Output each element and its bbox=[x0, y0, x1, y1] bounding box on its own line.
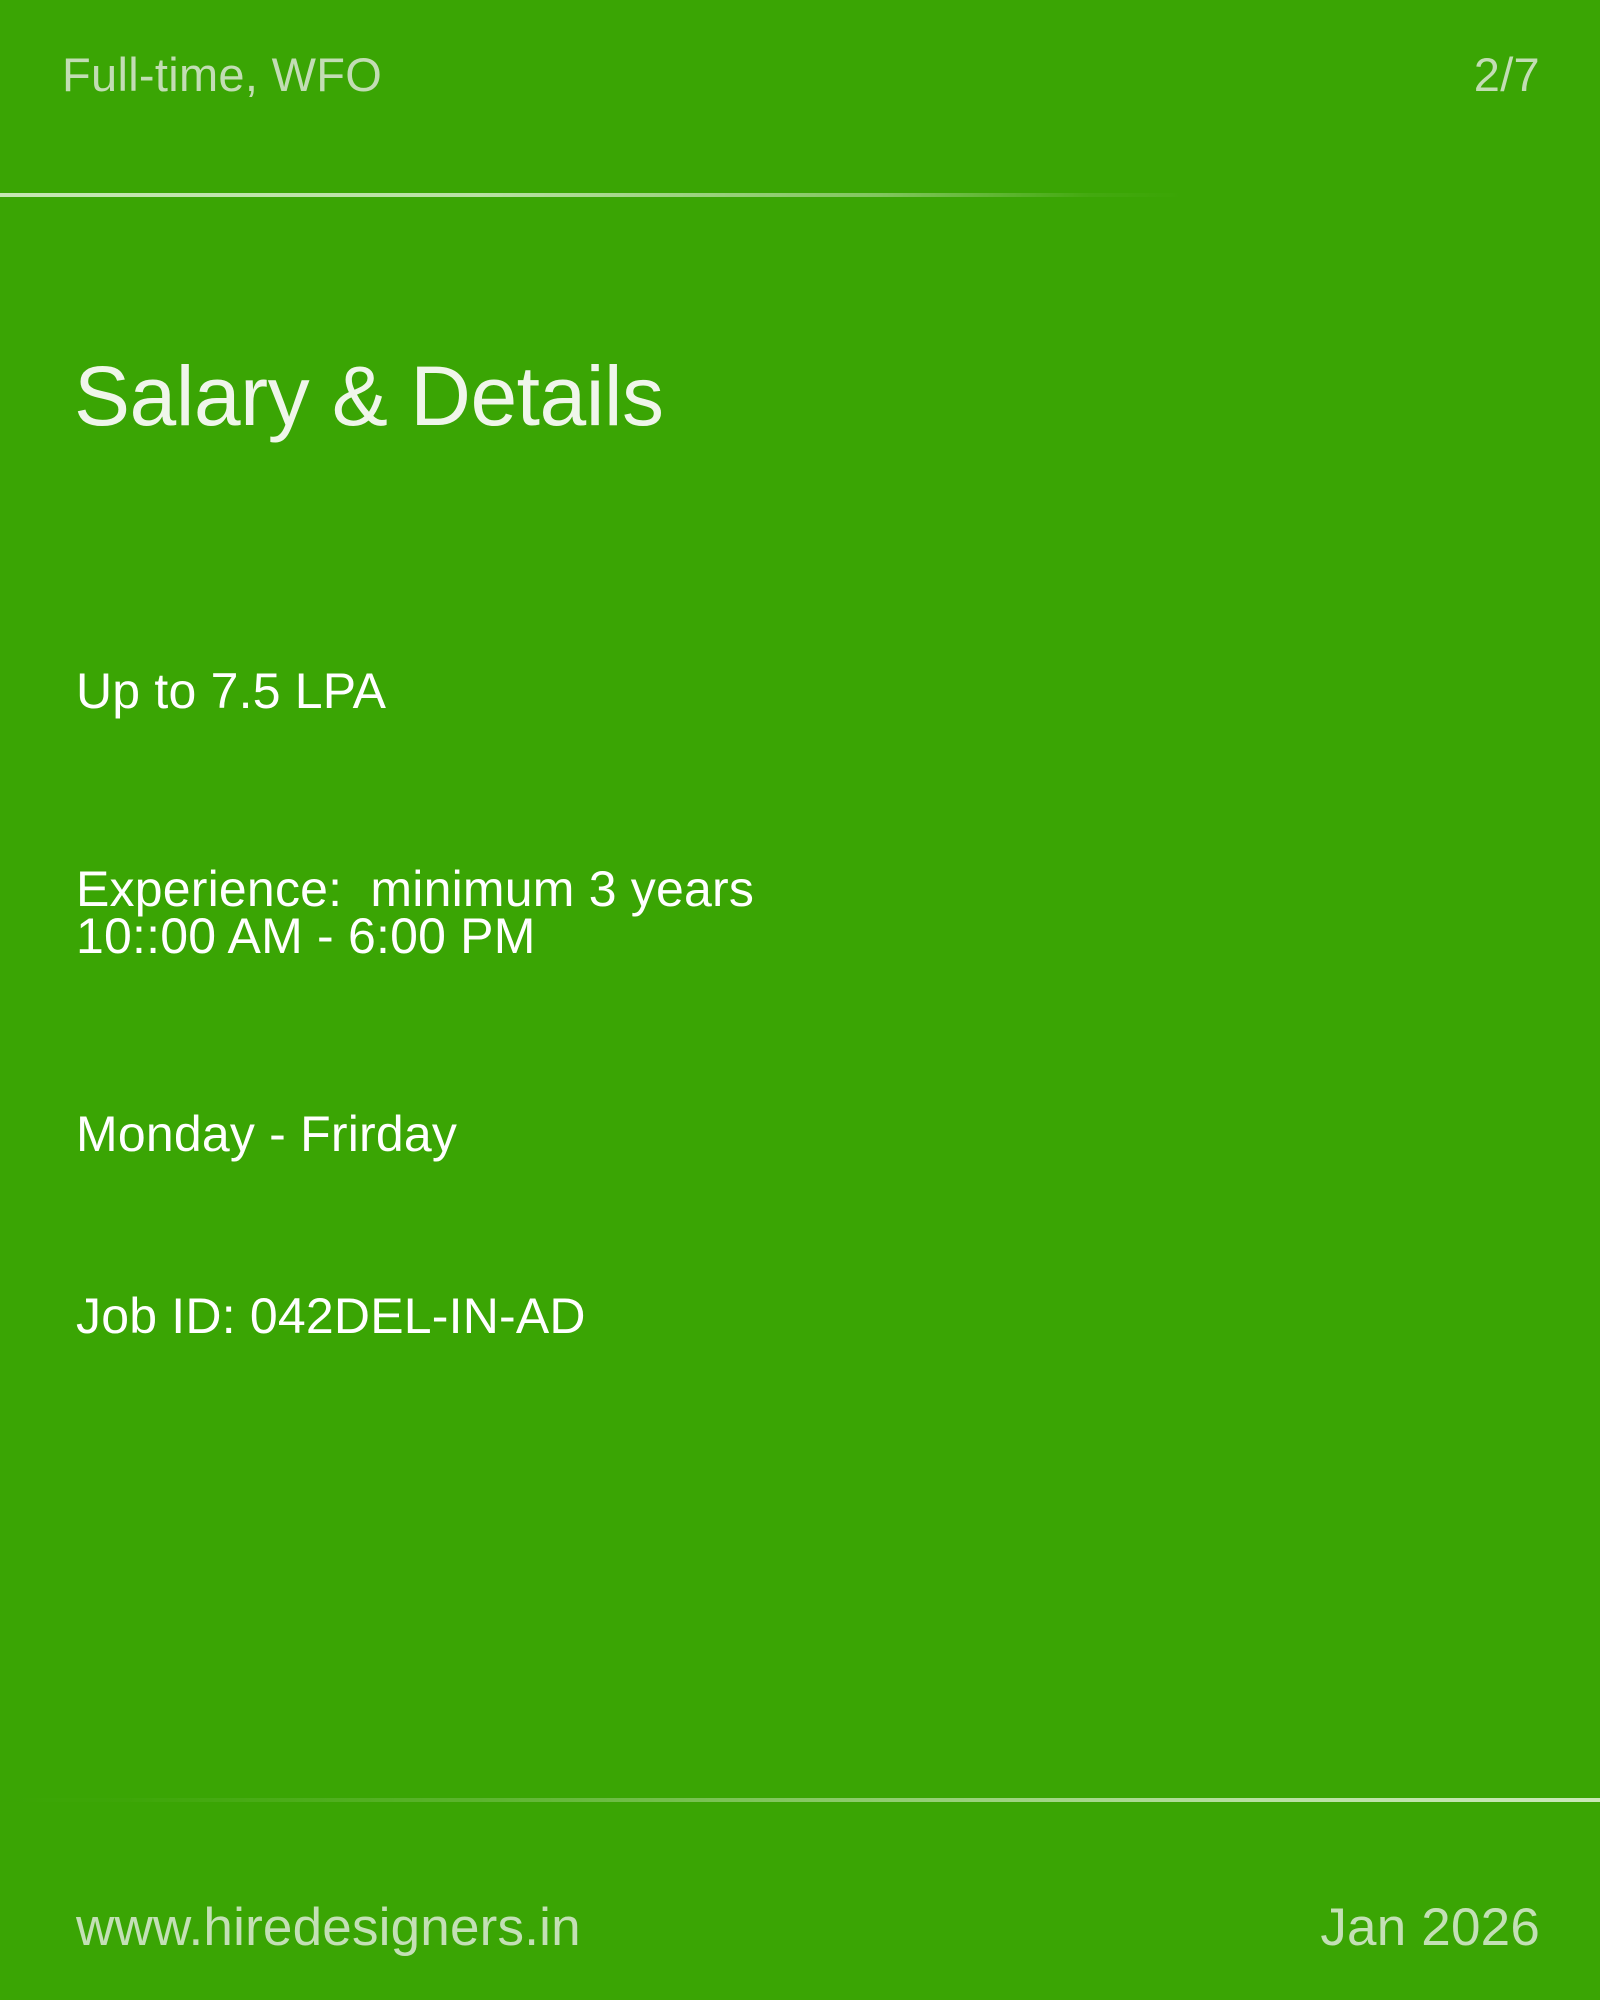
slide-header: Full-time, WFO 2/7 bbox=[0, 0, 1600, 196]
slide-footer: www.hiredesigners.in Jan 2026 bbox=[0, 1798, 1600, 2000]
salary-line: Up to 7.5 LPA bbox=[76, 658, 754, 724]
job-id-block: Job ID: 042DEL-IN-AD bbox=[76, 1151, 586, 1481]
slide-canvas: Full-time, WFO 2/7 Salary & Details Up t… bbox=[0, 0, 1600, 2000]
footer-divider bbox=[0, 1798, 1600, 1802]
page-title: Salary & Details bbox=[74, 354, 664, 438]
work-hours-line: 10::00 AM - 6:00 PM bbox=[76, 903, 536, 969]
header-divider bbox=[0, 193, 1600, 197]
website-link[interactable]: www.hiredesigners.in bbox=[76, 1898, 581, 1959]
job-id-line: Job ID: 042DEL-IN-AD bbox=[76, 1283, 586, 1349]
slide-counter: 2/7 bbox=[1474, 48, 1540, 102]
footer-date: Jan 2026 bbox=[1320, 1898, 1540, 1959]
employment-type-label: Full-time, WFO bbox=[62, 48, 382, 102]
